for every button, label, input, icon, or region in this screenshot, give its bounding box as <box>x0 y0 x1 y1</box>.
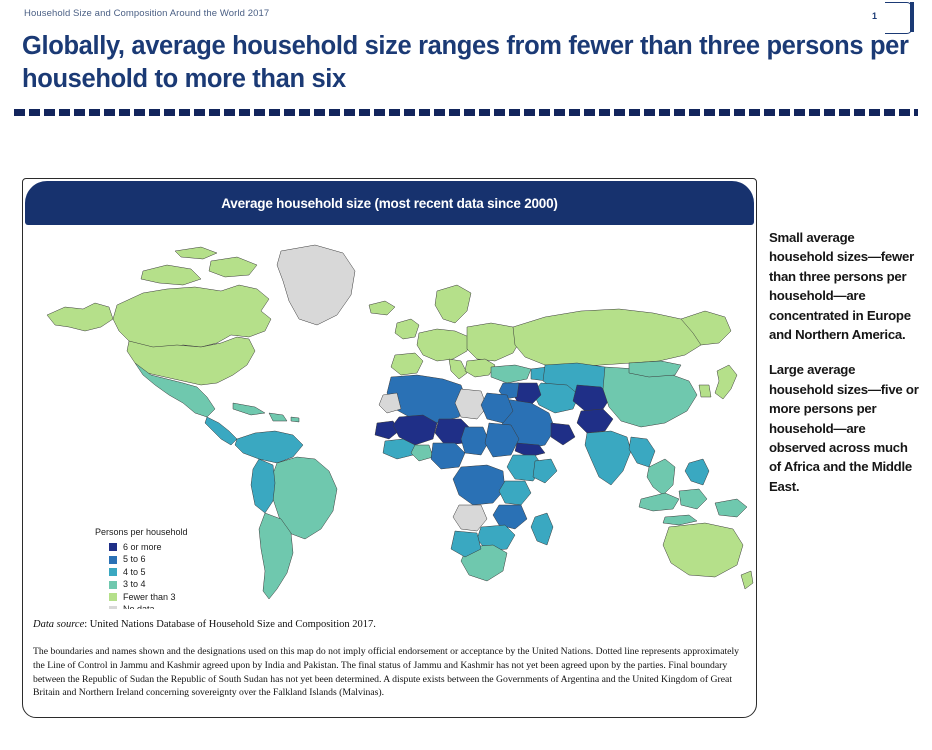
legend-item-3-to-4: 3 to 4 <box>109 579 188 592</box>
legend-swatch <box>109 543 117 551</box>
legend-item-fewer-than-3: Fewer than 3 <box>109 591 188 604</box>
legend-label: No data <box>123 605 155 609</box>
region-puerto-rico <box>291 417 299 422</box>
page-title: Globally, average household size ranges … <box>22 30 912 96</box>
region-mongolia <box>629 361 681 377</box>
legend-swatch <box>109 581 117 589</box>
side-note-large-households: Large average household sizes—five or mo… <box>769 360 919 496</box>
data-source-text: : United Nations Database of Household S… <box>84 619 376 630</box>
map-panel: Average household size (most recent data… <box>22 178 757 718</box>
map-legend: Persons per household 6 or more 5 to 6 4… <box>95 527 188 609</box>
side-notes: Small average household sizes—fewer than… <box>769 228 919 512</box>
page-number: 1 <box>872 11 877 21</box>
legend-swatch <box>109 568 117 576</box>
legend-item-5-to-6: 5 to 6 <box>109 554 188 567</box>
legend-label: Fewer than 3 <box>123 593 176 602</box>
page-tab-edge-decoration <box>910 2 914 32</box>
map-canvas: Persons per household 6 or more 5 to 6 4… <box>25 227 754 609</box>
legend-item-4-to-5: 4 to 5 <box>109 566 188 579</box>
data-source-line: Data source: United Nations Database of … <box>33 619 733 630</box>
data-source-label: Data source <box>33 619 84 630</box>
legend-label: 6 or more <box>123 543 162 552</box>
legend-label: 4 to 5 <box>123 568 146 577</box>
legend-label: 5 to 6 <box>123 555 146 564</box>
legend-swatch <box>109 606 117 609</box>
legend-label: 3 to 4 <box>123 580 146 589</box>
legend-swatch <box>109 593 117 601</box>
legend-item-6-or-more: 6 or more <box>109 541 188 554</box>
map-disclaimer-notes: The boundaries and names shown and the d… <box>33 645 747 700</box>
map-title-bar: Average household size (most recent data… <box>25 181 754 225</box>
dashed-divider <box>14 109 918 116</box>
side-note-small-households: Small average household sizes—fewer than… <box>769 228 919 344</box>
region-korea <box>699 385 711 397</box>
legend-swatch <box>109 556 117 564</box>
running-head: Household Size and Composition Around th… <box>24 8 269 19</box>
map-title: Average household size (most recent data… <box>221 196 557 211</box>
legend-title: Persons per household <box>95 527 188 537</box>
legend-item-no-data: No data <box>109 604 188 610</box>
